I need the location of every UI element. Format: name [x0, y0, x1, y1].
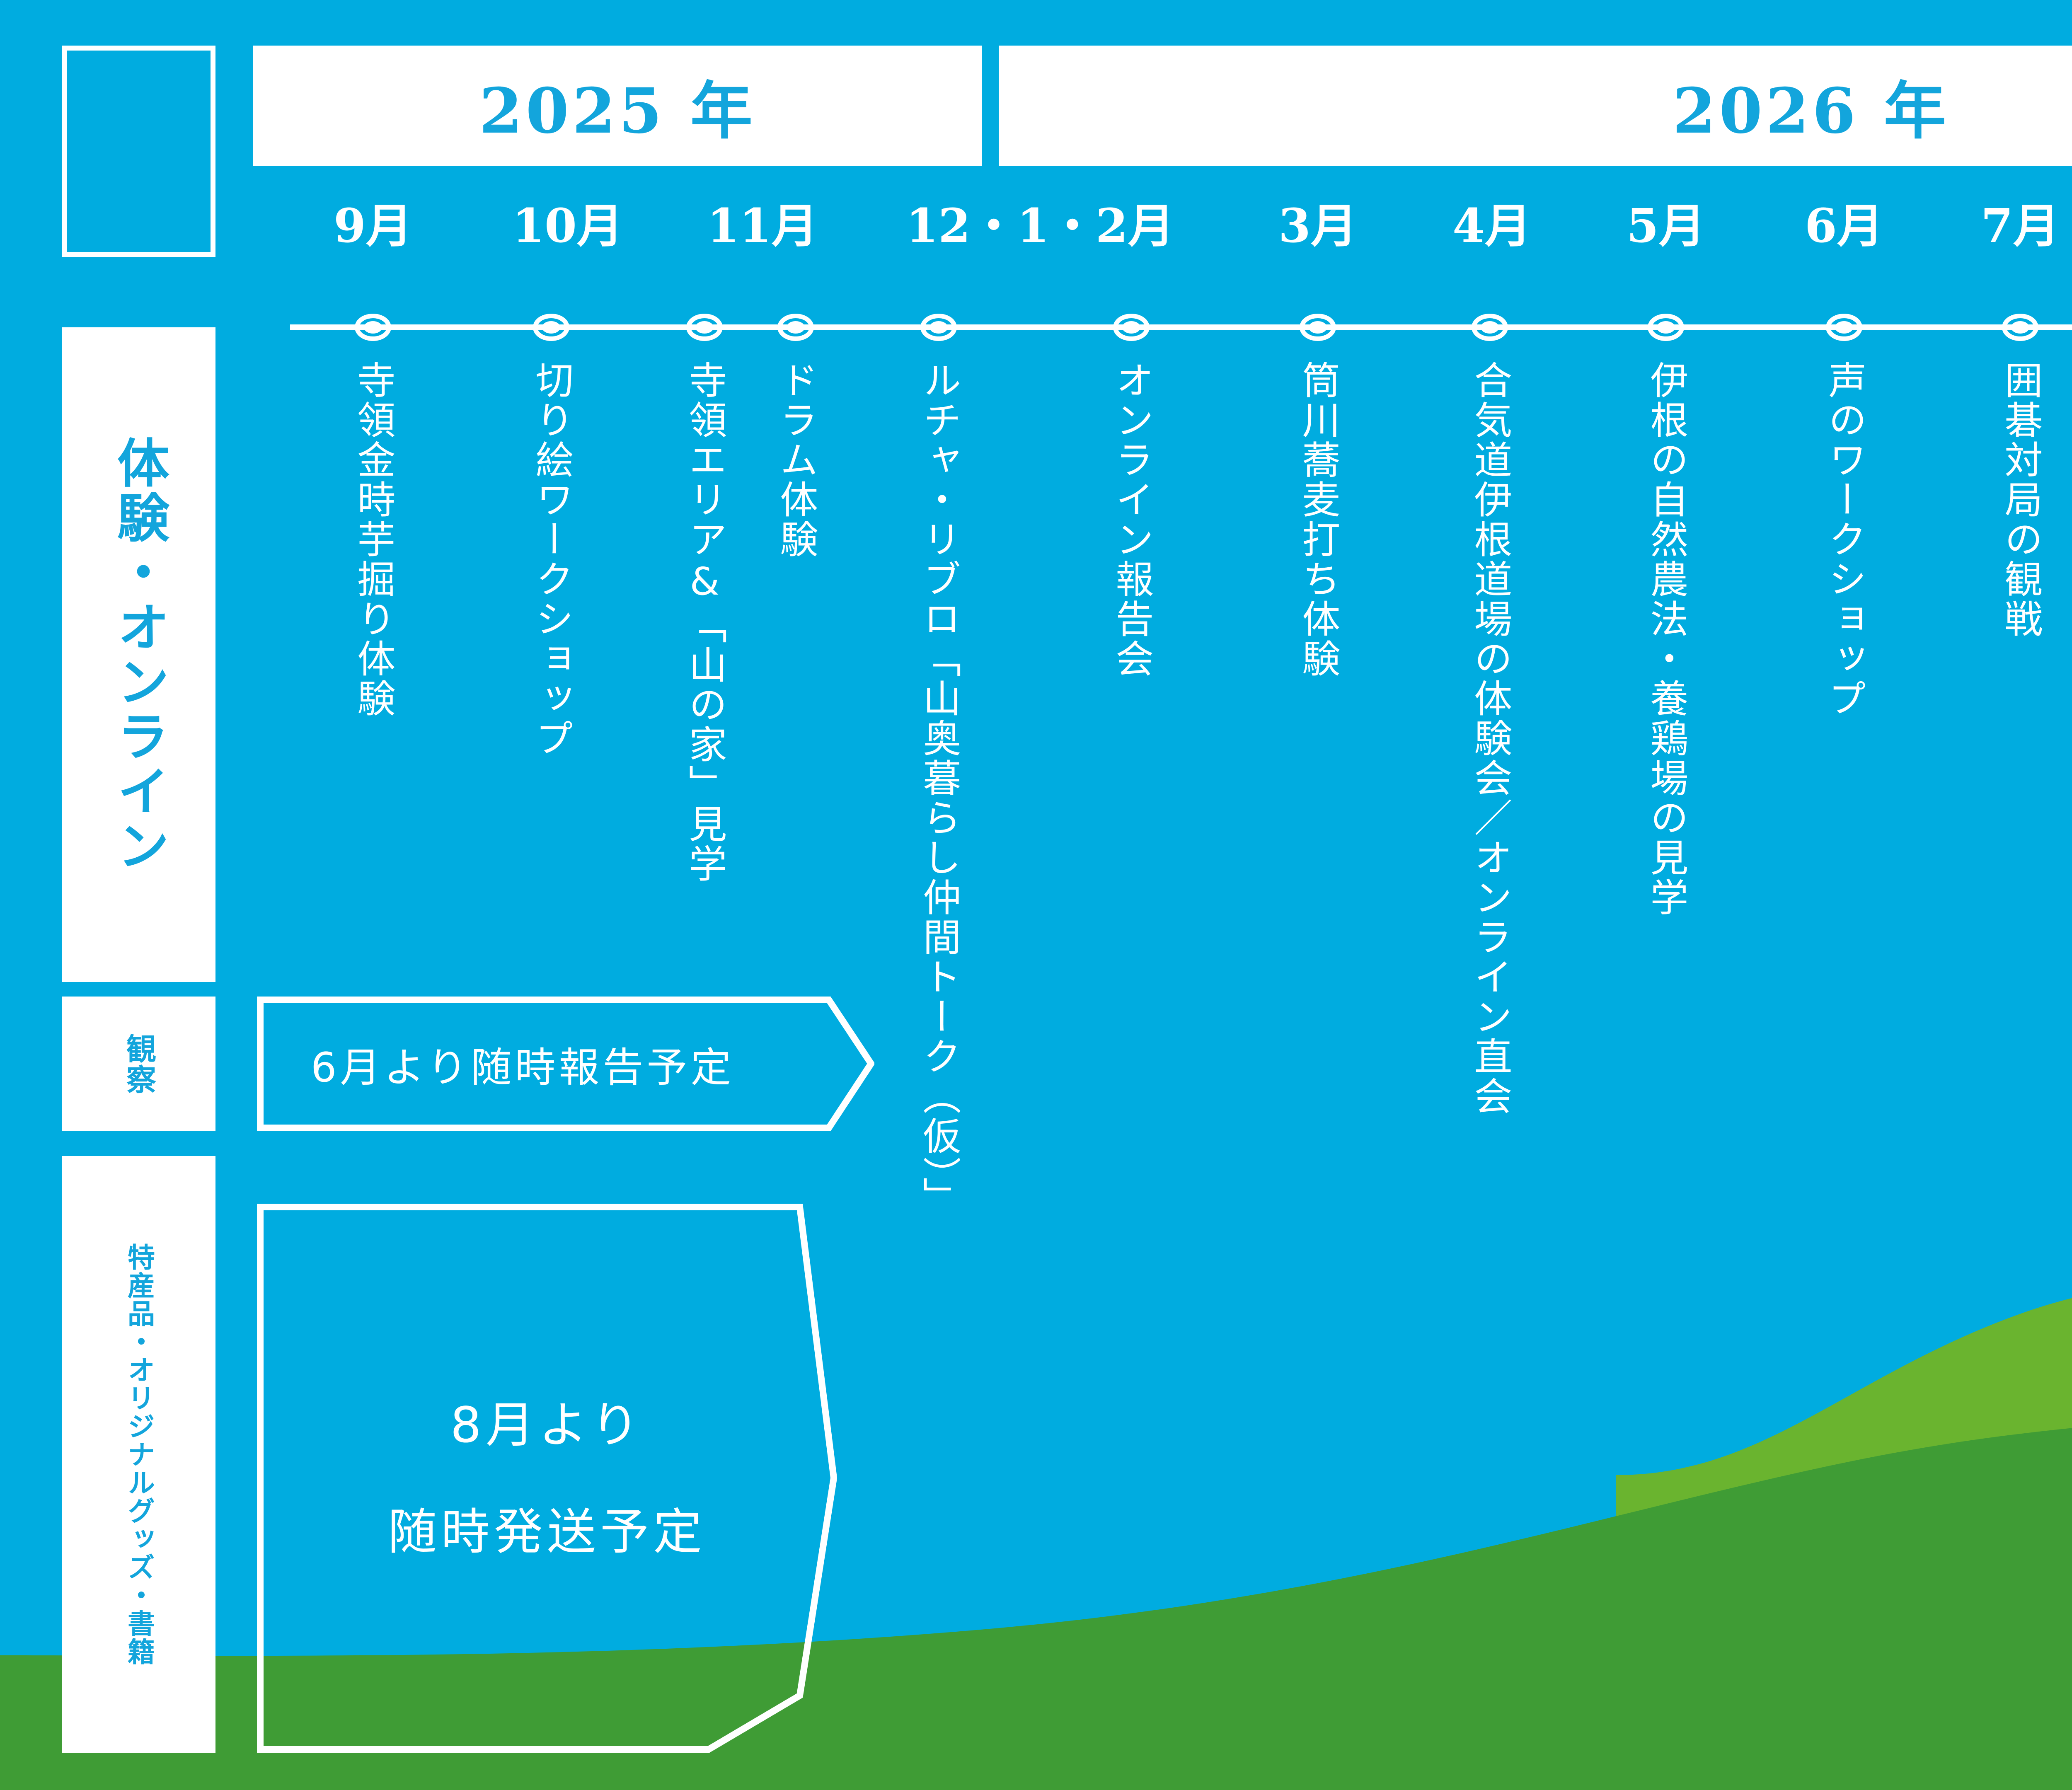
month-label-6: 6月: [1805, 189, 1883, 256]
category-label: 観察: [117, 1033, 161, 1095]
banner-label: 6月より随時報告予定: [311, 1035, 734, 1093]
banner-label-line2: 随時発送予定: [388, 1507, 706, 1556]
month-label-4: 4月: [1452, 189, 1531, 256]
month-label-12-1-2: 12・1・2月: [906, 189, 1174, 256]
category-label: 体験・オンライン: [101, 436, 177, 873]
timeline-marker-11[interactable]: [2002, 314, 2038, 341]
month-label-10-2025: 10月: [512, 189, 623, 256]
event-label-igo-taikyoku[interactable]: 囲碁対局の観戦: [2001, 360, 2040, 639]
event-label-tsutsukawa-soba[interactable]: 筒川蕎麦打ち体験: [1298, 360, 1337, 679]
year-label: 2026 年: [1673, 61, 1949, 151]
month-label-5: 5月: [1627, 189, 1705, 256]
timeline-marker-2[interactable]: [533, 314, 569, 341]
timeline-marker-5[interactable]: [920, 314, 957, 341]
month-label-3: 3月: [1278, 189, 1357, 256]
banner-monthly-report[interactable]: 6月より随時報告予定: [257, 997, 874, 1131]
timeline-marker-3[interactable]: [686, 314, 723, 341]
category-label: 特産品・オリジナルグッズ・書籍: [119, 1243, 159, 1666]
banner-shipping-schedule[interactable]: 8月より 随時発送予定: [257, 1204, 837, 1753]
event-label-jiryo-imohori[interactable]: 寺領金時芋掘り体験: [353, 360, 392, 718]
timeline-marker-7[interactable]: [1300, 314, 1336, 341]
timeline-marker-9[interactable]: [1648, 314, 1684, 341]
category-chip-kansatsu[interactable]: 観察: [62, 997, 215, 1131]
timeline-marker-1[interactable]: [355, 314, 391, 341]
event-label-aikido-dojo[interactable]: 合気道伊根道場の体験会／オンライン直会: [1470, 360, 1509, 1116]
year-label: 2025 年: [479, 61, 756, 151]
timeline-marker-4[interactable]: [777, 314, 814, 341]
timeline-marker-8[interactable]: [1472, 314, 1508, 341]
timeline-marker-10[interactable]: [1826, 314, 1862, 341]
event-label-online-report[interactable]: オンライン報告会: [1112, 360, 1151, 679]
event-label-jiryo-area-tour[interactable]: 寺領エリア&「山の家」見学: [685, 360, 724, 884]
event-label-lucha-libro-talk[interactable]: ルチャ・リブロ「山奥暮らし仲間トーク（仮）」: [919, 360, 958, 1217]
year-band-2025: 2025 年: [253, 46, 982, 166]
event-label-koe-workshop[interactable]: 声のワークショップ: [1825, 360, 1864, 718]
category-chip-taiken-online[interactable]: 体験・オンライン: [62, 327, 215, 982]
category-chip-goods[interactable]: 特産品・オリジナルグッズ・書籍: [62, 1156, 215, 1753]
year-band-2026: 2026 年: [999, 46, 2072, 166]
month-label-7: 7月: [1981, 189, 2060, 256]
timeline-marker-6[interactable]: [1113, 314, 1150, 341]
event-label-shizen-nouhou[interactable]: 伊根の自然農法・養鶏場の見学: [1646, 360, 1685, 917]
month-label-9-2025: 9月: [334, 189, 412, 256]
corner-placeholder-box: [62, 46, 215, 257]
month-label-11-2025: 11月: [707, 189, 818, 256]
banner-label-line1: 8月より: [450, 1401, 644, 1449]
event-label-kirie-workshop[interactable]: 切り絵ワークショップ: [532, 360, 571, 758]
event-label-drum-taiken[interactable]: ドラム体験: [776, 360, 815, 559]
